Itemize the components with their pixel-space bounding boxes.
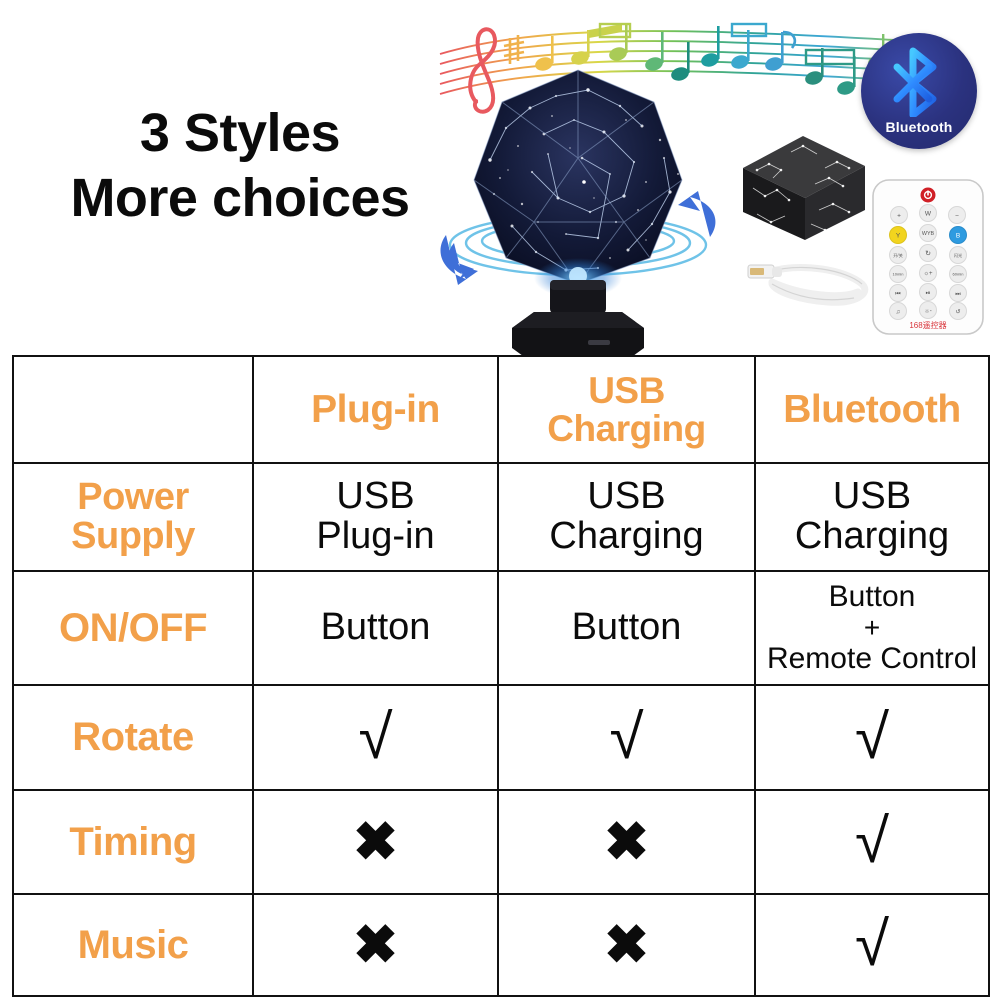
svg-text:Y: Y xyxy=(896,232,901,239)
cell-power-bluetooth: USB Charging xyxy=(755,463,989,571)
row-label-music: Music xyxy=(13,894,253,996)
header-usb-line2: Charging xyxy=(503,410,750,448)
bluetooth-badge: Bluetooth xyxy=(861,33,977,149)
cell-timing-plugin: ✖ xyxy=(253,790,498,894)
cell-line1: Button xyxy=(760,580,984,614)
table-row: Power Supply USB Plug-in USB Charging US… xyxy=(13,463,989,571)
cross-mark-icon: ✖ xyxy=(353,815,398,869)
table-row: Rotate √ √ √ xyxy=(13,685,989,790)
cell-line2: Charging xyxy=(503,517,750,557)
cell-rotate-usb: √ xyxy=(498,685,755,790)
svg-text:+: + xyxy=(897,212,901,219)
table-row: ON/OFF Button Button Button + Remote Con… xyxy=(13,571,989,685)
page-title: 3 Styles More choices xyxy=(40,105,440,226)
svg-text:↺: ↺ xyxy=(955,308,960,315)
header-cell-usb-charging: USB Charging xyxy=(498,356,755,463)
table-row: Timing ✖ ✖ √ xyxy=(13,790,989,894)
row-label-onoff: ON/OFF xyxy=(13,571,253,685)
cell-onoff-bluetooth: Button + Remote Control xyxy=(755,571,989,685)
cell-rotate-plugin: √ xyxy=(253,685,498,790)
check-mark-icon: √ xyxy=(855,707,889,769)
cell-music-usb: ✖ xyxy=(498,894,755,996)
svg-text:闪光: 闪光 xyxy=(954,252,962,259)
svg-text:⏯: ⏯ xyxy=(926,290,931,296)
usb-cable xyxy=(742,248,877,316)
check-mark-icon: √ xyxy=(609,707,643,769)
cell-power-plugin: USB Plug-in xyxy=(253,463,498,571)
cell-line2: Plug-in xyxy=(258,517,493,557)
table-header-row: Plug-in USB Charging Bluetooth xyxy=(13,356,989,463)
cell-timing-usb: ✖ xyxy=(498,790,755,894)
cell-rotate-bluetooth: √ xyxy=(755,685,989,790)
svg-text:⏮: ⏮ xyxy=(895,291,901,297)
cell-onoff-usb: Button xyxy=(498,571,755,685)
svg-text:开/关: 开/关 xyxy=(893,252,903,259)
check-mark-icon: √ xyxy=(855,811,889,873)
header-cell-bluetooth: Bluetooth xyxy=(755,356,989,463)
svg-text:10min: 10min xyxy=(893,272,904,277)
row-label-timing: Timing xyxy=(13,790,253,894)
cell-music-plugin: ✖ xyxy=(253,894,498,996)
cell-power-usb: USB Charging xyxy=(498,463,755,571)
header-cell-empty xyxy=(13,356,253,463)
svg-text:60min: 60min xyxy=(953,272,964,277)
cell-line1: USB xyxy=(760,477,984,517)
row-label-power-supply: Power Supply xyxy=(13,463,253,571)
svg-text:⏭: ⏭ xyxy=(955,291,961,297)
headline-line-1: 3 Styles xyxy=(40,105,440,162)
constellation-gift-box xyxy=(733,128,873,246)
cell-line1: USB xyxy=(258,477,493,517)
cell-line1: USB xyxy=(503,477,750,517)
table-row: Music ✖ ✖ √ xyxy=(13,894,989,996)
row-label-line1: Power xyxy=(18,478,248,517)
cross-mark-icon: ✖ xyxy=(604,918,649,972)
cell-plus: + xyxy=(760,614,984,642)
svg-text:WYB: WYB xyxy=(922,231,935,237)
cell-music-bluetooth: √ xyxy=(755,894,989,996)
comparison-table: Plug-in USB Charging Bluetooth Power Sup… xyxy=(12,355,990,997)
cell-line2: Charging xyxy=(760,517,984,557)
cross-mark-icon: ✖ xyxy=(353,918,398,972)
star-projector-lamp xyxy=(438,62,718,356)
svg-text:−: − xyxy=(955,212,959,219)
bluetooth-badge-label: Bluetooth xyxy=(861,119,977,135)
cell-line2: Remote Control xyxy=(760,642,984,676)
svg-text:B: B xyxy=(956,232,960,239)
comparison-table-wrap: Plug-in USB Charging Bluetooth Power Sup… xyxy=(12,355,988,995)
header-cell-plugin: Plug-in xyxy=(253,356,498,463)
cross-mark-icon: ✖ xyxy=(604,815,649,869)
row-label-line2: Supply xyxy=(18,517,248,556)
header-usb-line1: USB xyxy=(503,372,750,410)
cell-timing-bluetooth: √ xyxy=(755,790,989,894)
svg-text:↻: ↻ xyxy=(925,251,931,258)
cell-onoff-plugin: Button xyxy=(253,571,498,685)
remote-control: + W − Y WYB B 开/关 ↻ 闪光 10min ☼+ 60mi xyxy=(869,178,987,336)
check-mark-icon: √ xyxy=(855,914,889,976)
headline-line-2: More choices xyxy=(40,170,440,227)
svg-text:W: W xyxy=(925,210,932,217)
check-mark-icon: √ xyxy=(358,707,392,769)
bluetooth-icon xyxy=(889,47,949,117)
svg-text:☼-: ☼- xyxy=(924,308,932,314)
svg-text:☼+: ☼+ xyxy=(923,271,932,277)
hero-section: 3 Styles More choices xyxy=(0,0,1000,356)
remote-footer-text: 168遥控器 xyxy=(909,320,946,330)
svg-text:♫: ♫ xyxy=(896,309,901,315)
product-comparison-page: 3 Styles More choices xyxy=(0,0,1000,1000)
row-label-rotate: Rotate xyxy=(13,685,253,790)
